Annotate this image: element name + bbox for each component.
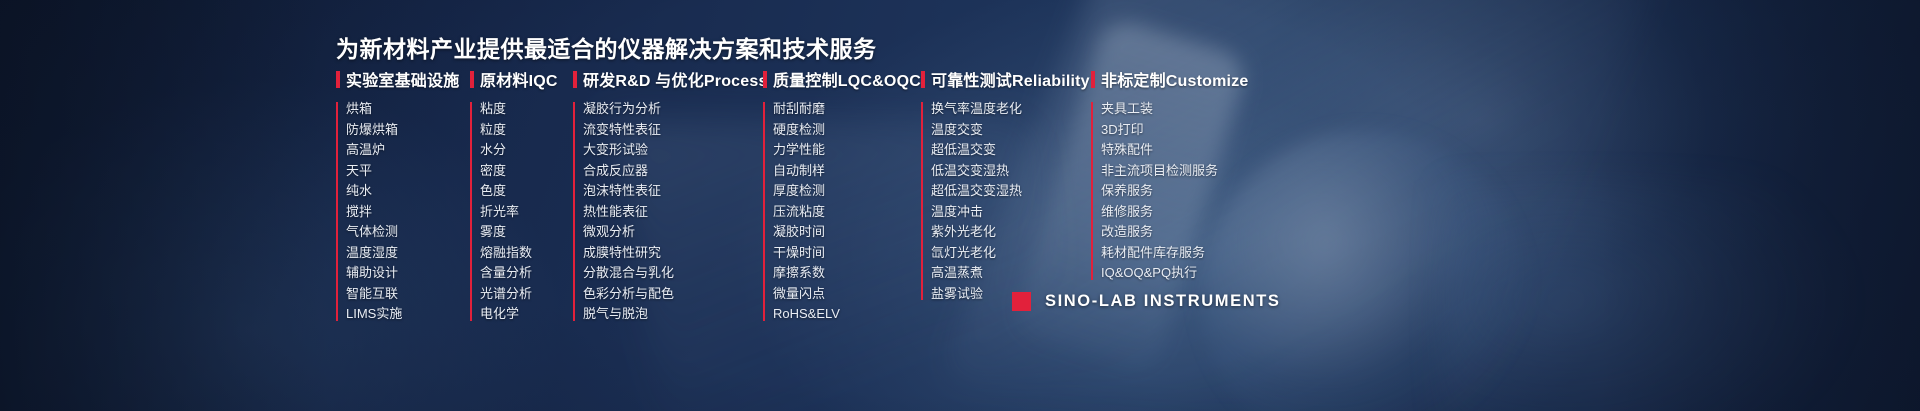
list-item[interactable]: RoHS&ELV: [773, 304, 921, 325]
category-column-header[interactable]: 非标定制Customize: [1091, 68, 1251, 90]
list-item[interactable]: 烘箱: [346, 99, 470, 120]
list-item[interactable]: 流变特性表征: [583, 120, 763, 141]
list-item[interactable]: 超低温交变湿热: [931, 181, 1091, 202]
list-item[interactable]: 温度交变: [931, 120, 1091, 141]
list-item[interactable]: 凝胶时间: [773, 222, 921, 243]
list-item[interactable]: 密度: [480, 161, 573, 182]
list-item[interactable]: 耐刮耐磨: [773, 99, 921, 120]
list-item[interactable]: 色度: [480, 181, 573, 202]
list-item[interactable]: 特殊配件: [1101, 140, 1251, 161]
list-item[interactable]: 温度湿度: [346, 243, 470, 264]
category-column-header[interactable]: 研发R&D 与优化Process: [573, 68, 763, 90]
list-item[interactable]: 熔融指数: [480, 243, 573, 264]
page-title: 为新材料产业提供最适合的仪器解决方案和技术服务: [336, 30, 877, 64]
list-item[interactable]: 折光率: [480, 202, 573, 223]
category-item-list: 凝胶行为分析流变特性表征大变形试验合成反应器泡沫特性表征热性能表征微观分析成膜特…: [573, 99, 763, 325]
list-item[interactable]: 色彩分析与配色: [583, 284, 763, 305]
list-item[interactable]: 氙灯光老化: [931, 243, 1091, 264]
list-item[interactable]: 压流粘度: [773, 202, 921, 223]
category-item-list: 粘度粒度水分密度色度折光率雾度熔融指数含量分析光谱分析电化学: [470, 99, 573, 325]
list-item[interactable]: 力学性能: [773, 140, 921, 161]
header-accent-bar-icon: [763, 71, 767, 88]
list-item[interactable]: 分散混合与乳化: [583, 263, 763, 284]
banner-root: 为新材料产业提供最适合的仪器解决方案和技术服务 实验室基础设施烘箱防爆烘箱高温炉…: [0, 0, 1920, 411]
list-item[interactable]: 电化学: [480, 304, 573, 325]
category-column-header[interactable]: 实验室基础设施: [336, 68, 470, 90]
list-item[interactable]: 含量分析: [480, 263, 573, 284]
list-item[interactable]: 超低温交变: [931, 140, 1091, 161]
list-item[interactable]: 天平: [346, 161, 470, 182]
category-item-list: 耐刮耐磨硬度检测力学性能自动制样厚度检测压流粘度凝胶时间干燥时间摩擦系数微量闪点…: [763, 99, 921, 325]
list-item[interactable]: 纯水: [346, 181, 470, 202]
list-item[interactable]: 厚度检测: [773, 181, 921, 202]
category-column: 实验室基础设施烘箱防爆烘箱高温炉天平纯水搅拌气体检测温度湿度辅助设计智能互联LI…: [336, 68, 470, 325]
list-item[interactable]: 微观分析: [583, 222, 763, 243]
list-item[interactable]: 夹具工装: [1101, 99, 1251, 120]
category-column-header[interactable]: 质量控制LQC&OQC: [763, 68, 921, 90]
list-item[interactable]: 低温交变湿热: [931, 161, 1091, 182]
header-accent-bar-icon: [573, 71, 577, 88]
category-column-header-label: 质量控制LQC&OQC: [773, 67, 921, 91]
list-item[interactable]: 防爆烘箱: [346, 120, 470, 141]
list-item[interactable]: 耗材配件库存服务: [1101, 243, 1251, 264]
category-column-header-label: 研发R&D 与优化Process: [583, 67, 768, 91]
list-item[interactable]: 气体检测: [346, 222, 470, 243]
list-item[interactable]: 高温炉: [346, 140, 470, 161]
list-item[interactable]: 换气率温度老化: [931, 99, 1091, 120]
category-item-list: 换气率温度老化温度交变超低温交变低温交变湿热超低温交变湿热温度冲击紫外光老化氙灯…: [921, 99, 1091, 304]
list-item[interactable]: 热性能表征: [583, 202, 763, 223]
category-column-header-label: 可靠性测试Reliability: [931, 67, 1090, 91]
header-accent-bar-icon: [336, 71, 340, 88]
list-item[interactable]: 辅助设计: [346, 263, 470, 284]
list-item[interactable]: 高温蒸煮: [931, 263, 1091, 284]
list-item[interactable]: 3D打印: [1101, 120, 1251, 141]
list-item[interactable]: 微量闪点: [773, 284, 921, 305]
list-item[interactable]: 大变形试验: [583, 140, 763, 161]
list-item[interactable]: 搅拌: [346, 202, 470, 223]
list-item[interactable]: LIMS实施: [346, 304, 470, 325]
category-column: 非标定制Customize夹具工装3D打印特殊配件非主流项目检测服务保养服务维修…: [1091, 68, 1251, 284]
list-item[interactable]: 脱气与脱泡: [583, 304, 763, 325]
logo-text: SINO-LAB INSTRUMENTS: [1045, 292, 1281, 311]
list-item[interactable]: 自动制样: [773, 161, 921, 182]
banner-content: 为新材料产业提供最适合的仪器解决方案和技术服务 实验室基础设施烘箱防爆烘箱高温炉…: [0, 0, 1920, 411]
category-column-header-label: 原材料IQC: [480, 67, 558, 91]
list-item[interactable]: 非主流项目检测服务: [1101, 161, 1251, 182]
category-column-header[interactable]: 可靠性测试Reliability: [921, 68, 1091, 90]
category-column-header[interactable]: 原材料IQC: [470, 68, 573, 90]
category-item-list: 夹具工装3D打印特殊配件非主流项目检测服务保养服务维修服务改造服务耗材配件库存服…: [1091, 99, 1251, 284]
list-item[interactable]: 智能互联: [346, 284, 470, 305]
list-item[interactable]: 维修服务: [1101, 202, 1251, 223]
list-item[interactable]: IQ&OQ&PQ执行: [1101, 263, 1251, 284]
list-item[interactable]: 合成反应器: [583, 161, 763, 182]
list-item[interactable]: 凝胶行为分析: [583, 99, 763, 120]
list-item[interactable]: 摩擦系数: [773, 263, 921, 284]
list-item[interactable]: 干燥时间: [773, 243, 921, 264]
category-column-header-label: 实验室基础设施: [346, 67, 459, 91]
brand-logo: SINO-LAB INSTRUMENTS: [1012, 292, 1281, 311]
list-item[interactable]: 成膜特性研究: [583, 243, 763, 264]
list-item[interactable]: 温度冲击: [931, 202, 1091, 223]
list-item[interactable]: 泡沫特性表征: [583, 181, 763, 202]
list-item[interactable]: 粒度: [480, 120, 573, 141]
header-accent-bar-icon: [921, 71, 925, 88]
header-accent-bar-icon: [470, 71, 474, 88]
category-item-list: 烘箱防爆烘箱高温炉天平纯水搅拌气体检测温度湿度辅助设计智能互联LIMS实施: [336, 99, 470, 325]
list-item[interactable]: 改造服务: [1101, 222, 1251, 243]
category-columns: 实验室基础设施烘箱防爆烘箱高温炉天平纯水搅拌气体检测温度湿度辅助设计智能互联LI…: [336, 68, 1251, 325]
list-item[interactable]: 雾度: [480, 222, 573, 243]
category-column-header-label: 非标定制Customize: [1101, 67, 1249, 91]
category-column: 原材料IQC粘度粒度水分密度色度折光率雾度熔融指数含量分析光谱分析电化学: [470, 68, 573, 325]
category-column: 研发R&D 与优化Process凝胶行为分析流变特性表征大变形试验合成反应器泡沫…: [573, 68, 763, 325]
list-item[interactable]: 紫外光老化: [931, 222, 1091, 243]
logo-square-icon: [1012, 292, 1031, 311]
list-item[interactable]: 保养服务: [1101, 181, 1251, 202]
header-accent-bar-icon: [1091, 71, 1095, 88]
category-column: 可靠性测试Reliability换气率温度老化温度交变超低温交变低温交变湿热超低…: [921, 68, 1091, 304]
list-item[interactable]: 硬度检测: [773, 120, 921, 141]
list-item[interactable]: 光谱分析: [480, 284, 573, 305]
list-item[interactable]: 水分: [480, 140, 573, 161]
list-item[interactable]: 粘度: [480, 99, 573, 120]
category-column: 质量控制LQC&OQC耐刮耐磨硬度检测力学性能自动制样厚度检测压流粘度凝胶时间干…: [763, 68, 921, 325]
